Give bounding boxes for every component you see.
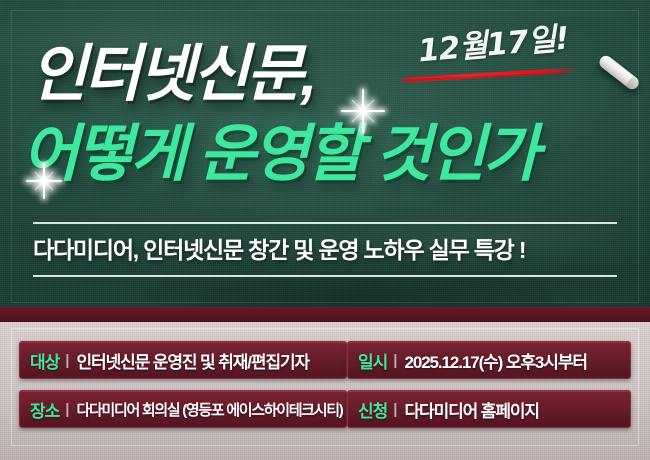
info-separator: |: [65, 401, 69, 418]
subtitle-rule-bottom: [33, 275, 617, 277]
info-label-datetime: 일시: [358, 348, 387, 373]
info-value-datetime: 2025.12.17(수) 오후3시부터: [404, 348, 586, 373]
seminar-promo-banner: 인터넷신문, 어떻게 운영할 것인가 12월17일! 다다미디어, 인터넷신문 …: [0, 0, 650, 460]
info-box-registration: 신청 | 다다미디어 홈페이지: [347, 390, 631, 428]
section-divider-band: [0, 307, 650, 322]
info-label-venue: 장소: [30, 397, 59, 422]
headline-line-1: 인터넷신문,: [30, 44, 314, 106]
info-separator: |: [65, 352, 69, 369]
event-info-panel: 대상 | 인터넷신문 운영진 및 취재/편집기자 일시 | 2025.12.17…: [0, 322, 650, 460]
info-value-venue: 다다미디어 회의실 (영등포 에이스하이테크시티): [76, 399, 342, 420]
info-value-target: 인터넷신문 운영진 및 취재/편집기자: [76, 348, 309, 373]
info-separator: |: [393, 401, 397, 418]
info-box-target: 대상 | 인터넷신문 운영진 및 취재/편집기자: [19, 341, 347, 379]
info-label-target: 대상: [30, 348, 59, 373]
subtitle-block: 다다미디어, 인터넷신문 창간 및 운영 노하우 실무 특강 !: [33, 222, 617, 277]
subtitle-text: 다다미디어, 인터넷신문 창간 및 운영 노하우 실무 특강 !: [33, 224, 617, 275]
info-value-registration: 다다미디어 홈페이지: [404, 397, 538, 422]
info-grid: 대상 | 인터넷신문 운영진 및 취재/편집기자 일시 | 2025.12.17…: [19, 341, 631, 428]
headline-line-2: 어떻게 운영할 것인가: [22, 124, 537, 186]
info-box-venue: 장소 | 다다미디어 회의실 (영등포 에이스하이테크시티): [19, 390, 347, 428]
info-label-registration: 신청: [358, 397, 387, 422]
info-separator: |: [393, 352, 397, 369]
info-box-datetime: 일시 | 2025.12.17(수) 오후3시부터: [347, 341, 631, 379]
